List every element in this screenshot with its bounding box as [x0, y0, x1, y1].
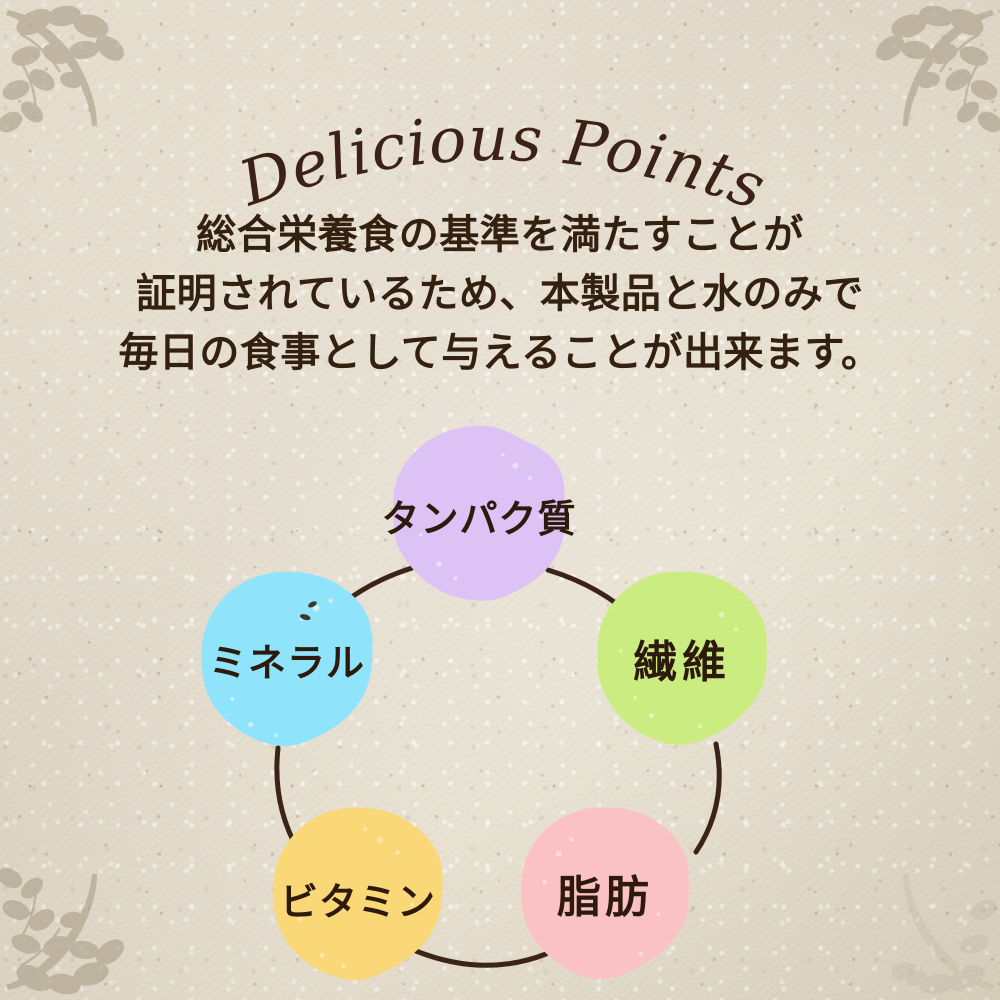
connector-fiber-fat: [696, 744, 719, 852]
nutrient-label-protein: タンパク質: [382, 488, 577, 543]
description-line-3: 毎日の食事として与えることが出来ます。: [0, 324, 1000, 383]
description-block: 総合栄養食の基準を満たすことが 証明されているため、本製品と水のみで 毎日の食事…: [0, 206, 1000, 384]
nutrient-node-mineral[interactable]: ミネラル: [196, 568, 378, 750]
nutrient-node-fiber[interactable]: 繊維: [592, 568, 772, 748]
nutrient-label-fat: 脂肪: [557, 861, 653, 925]
promo-panel: Delicious Points 総合栄養食の基準を満たすことが 証明されている…: [0, 0, 1000, 1000]
nutrient-node-fat[interactable]: 脂肪: [516, 804, 694, 982]
nutrient-label-fiber: 繊維: [633, 626, 731, 690]
description-line-1: 総合栄養食の基準を満たすことが: [0, 206, 1000, 265]
nutrient-label-vitamin: ビタミン: [280, 871, 436, 926]
nutrient-cycle-diagram: タンパク質 繊維: [150, 400, 850, 1000]
nutrient-node-vitamin[interactable]: ビタミン: [268, 804, 448, 984]
page-title: Delicious Points: [0, 58, 1000, 198]
nutrient-label-mineral: ミネラル: [209, 632, 365, 687]
nutrient-node-protein[interactable]: タンパク質: [388, 422, 570, 604]
description-line-2: 証明されているため、本製品と水のみで: [0, 265, 1000, 324]
